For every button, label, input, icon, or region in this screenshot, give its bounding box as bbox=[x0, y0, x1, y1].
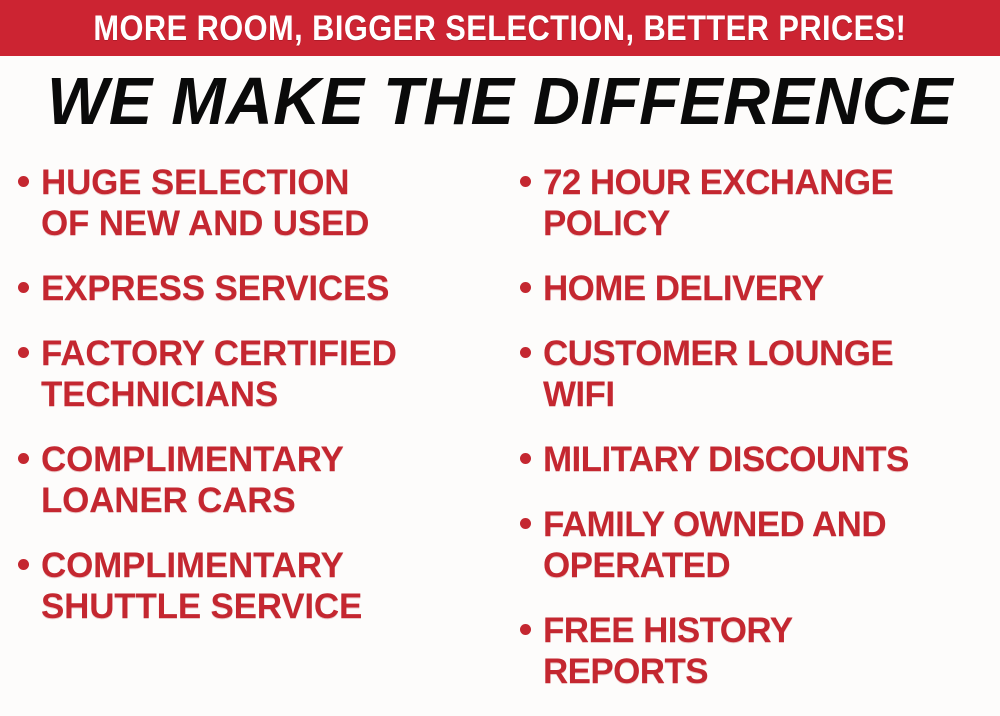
list-item-line1: COMPLIMENTARY bbox=[41, 440, 344, 479]
list-item-text: FACTORY CERTIFIED TECHNICIANS bbox=[41, 333, 397, 415]
list-item-text: FAMILY OWNED AND OPERATED bbox=[543, 504, 886, 586]
list-item-line1: FACTORY CERTIFIED bbox=[41, 334, 397, 373]
list-item-line1: FREE HISTORY bbox=[543, 611, 793, 650]
list-item-line1: 72 HOUR EXCHANGE bbox=[543, 163, 893, 202]
list-item: FACTORY CERTIFIED TECHNICIANS bbox=[18, 333, 502, 415]
bullet-dot-icon bbox=[520, 624, 531, 635]
list-item: HOME DELIVERY bbox=[520, 268, 1000, 309]
list-item-text: EXPRESS SERVICES bbox=[41, 268, 389, 309]
headline-container: WE MAKE THE DIFFERENCE bbox=[0, 62, 1000, 142]
list-item-line2: POLICY bbox=[543, 204, 670, 243]
list-item-line2: REPORTS bbox=[543, 652, 708, 691]
list-item-line2: SHUTTLE SERVICE bbox=[41, 587, 362, 626]
list-item-text: COMPLIMENTARY LOANER CARS bbox=[41, 439, 344, 521]
bullet-dot-icon bbox=[520, 176, 531, 187]
list-item-text: COMPLIMENTARY SHUTTLE SERVICE bbox=[41, 545, 362, 627]
list-item-line2: TECHNICIANS bbox=[41, 375, 278, 414]
bullet-dot-icon bbox=[520, 518, 531, 529]
list-item-line1: EXPRESS SERVICES bbox=[41, 269, 389, 308]
bullet-dot-icon bbox=[520, 282, 531, 293]
list-item-text: CUSTOMER LOUNGE WIFI bbox=[543, 333, 893, 415]
list-item-text: MILITARY DISCOUNTS bbox=[543, 439, 909, 480]
benefits-column-left: HUGE SELECTION OF NEW AND USED EXPRESS S… bbox=[0, 152, 502, 651]
list-item: CUSTOMER LOUNGE WIFI bbox=[520, 333, 1000, 415]
list-item: HUGE SELECTION OF NEW AND USED bbox=[18, 162, 502, 244]
bullet-dot-icon bbox=[18, 176, 29, 187]
list-item-line1: COMPLIMENTARY bbox=[41, 546, 344, 585]
benefits-column-right: 72 HOUR EXCHANGE POLICY HOME DELIVERY CU… bbox=[502, 152, 1000, 716]
benefits-columns: HUGE SELECTION OF NEW AND USED EXPRESS S… bbox=[0, 152, 1000, 694]
bullet-dot-icon bbox=[18, 347, 29, 358]
list-item-text: 72 HOUR EXCHANGE POLICY bbox=[543, 162, 893, 244]
list-item: EXPRESS SERVICES bbox=[18, 268, 502, 309]
bullet-dot-icon bbox=[18, 282, 29, 293]
bullet-dot-icon bbox=[18, 453, 29, 464]
list-item-line1: FAMILY OWNED AND bbox=[543, 505, 886, 544]
list-item: FREE HISTORY REPORTS bbox=[520, 610, 1000, 692]
list-item-line2: LOANER CARS bbox=[41, 481, 295, 520]
list-item: FAMILY OWNED AND OPERATED bbox=[520, 504, 1000, 586]
list-item: COMPLIMENTARY SHUTTLE SERVICE bbox=[18, 545, 502, 627]
bullet-dot-icon bbox=[18, 559, 29, 570]
list-item: 72 HOUR EXCHANGE POLICY bbox=[520, 162, 1000, 244]
list-item-text: HUGE SELECTION OF NEW AND USED bbox=[41, 162, 369, 244]
list-item-line1: HUGE SELECTION bbox=[41, 163, 349, 202]
list-item-line2: WIFI bbox=[543, 375, 614, 414]
list-item-text: FREE HISTORY REPORTS bbox=[543, 610, 793, 692]
list-item-line1: CUSTOMER LOUNGE bbox=[543, 334, 893, 373]
bullet-dot-icon bbox=[520, 347, 531, 358]
promo-banner: MORE ROOM, BIGGER SELECTION, BETTER PRIC… bbox=[0, 0, 1000, 56]
bullet-dot-icon bbox=[520, 453, 531, 464]
list-item: MILITARY DISCOUNTS bbox=[520, 439, 1000, 480]
list-item-line1: HOME DELIVERY bbox=[543, 269, 824, 308]
list-item-line1: MILITARY DISCOUNTS bbox=[543, 440, 909, 479]
promo-banner-text: MORE ROOM, BIGGER SELECTION, BETTER PRIC… bbox=[94, 11, 907, 46]
page-title: WE MAKE THE DIFFERENCE bbox=[47, 67, 953, 137]
list-item-line2: OPERATED bbox=[543, 546, 730, 585]
list-item-text: HOME DELIVERY bbox=[543, 268, 824, 309]
list-item-line2: OF NEW AND USED bbox=[41, 204, 369, 243]
list-item: COMPLIMENTARY LOANER CARS bbox=[18, 439, 502, 521]
